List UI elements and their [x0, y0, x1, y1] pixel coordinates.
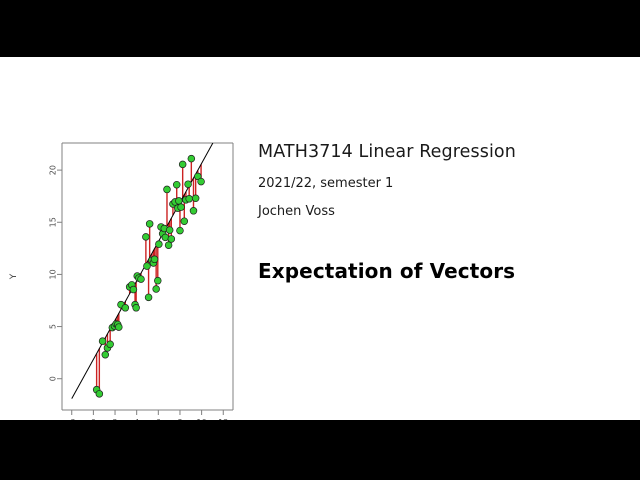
term-subtitle: 2021/22, semester 1	[258, 176, 608, 192]
scatter-plot: -202468101205101520XY	[0, 57, 260, 420]
data-point	[144, 263, 151, 270]
data-point	[146, 220, 153, 227]
course-title: MATH3714 Linear Regression	[258, 142, 608, 163]
data-point	[142, 233, 149, 240]
data-point	[138, 276, 145, 283]
slide-canvas: -202468101205101520XY MATH3714 Linear Re…	[0, 57, 640, 420]
data-point	[153, 286, 160, 293]
data-point	[168, 236, 175, 243]
x-tick-label: 12	[218, 418, 228, 420]
y-tick-label: 10	[49, 269, 58, 279]
data-point	[155, 241, 162, 248]
data-point	[151, 256, 158, 263]
x-tick-label: 10	[197, 418, 207, 420]
data-point	[107, 341, 114, 348]
data-point	[178, 204, 185, 211]
y-tick-label: 15	[49, 217, 58, 227]
data-point	[102, 351, 109, 358]
data-point	[115, 324, 122, 331]
data-point	[164, 186, 171, 193]
data-point	[175, 197, 182, 204]
data-point	[166, 227, 173, 234]
data-point	[192, 195, 199, 202]
x-tick-label: -2	[68, 418, 76, 420]
x-tick-label: 8	[177, 418, 182, 420]
data-point	[96, 390, 103, 397]
data-point	[179, 161, 186, 168]
data-point	[133, 304, 140, 311]
data-point	[154, 277, 161, 284]
slide-text-block: MATH3714 Linear Regression 2021/22, seme…	[258, 142, 608, 283]
data-point	[188, 155, 195, 162]
data-point	[130, 286, 137, 293]
x-tick-label: 4	[134, 418, 139, 420]
y-tick-label: 5	[49, 324, 58, 329]
x-tick-label: 6	[156, 418, 161, 420]
data-point	[185, 181, 192, 188]
y-axis-title: Y	[9, 273, 19, 280]
data-point	[173, 181, 180, 188]
plot-data-layer	[72, 142, 214, 399]
y-tick-label: 20	[49, 165, 58, 175]
video-frame: -202468101205101520XY MATH3714 Linear Re…	[0, 0, 640, 480]
data-point	[186, 195, 193, 202]
y-tick-label: 0	[49, 376, 58, 381]
data-point	[198, 178, 205, 185]
regression-line	[72, 142, 214, 399]
data-point	[181, 218, 188, 225]
data-point	[122, 304, 129, 311]
section-title: Expectation of Vectors	[258, 259, 608, 283]
data-point	[145, 294, 152, 301]
data-point	[99, 338, 106, 345]
data-point	[190, 207, 197, 214]
author-name: Jochen Voss	[258, 204, 608, 220]
data-point	[165, 242, 172, 249]
data-point	[177, 227, 184, 234]
x-tick-label: 2	[112, 418, 117, 420]
plot-svg: -202468101205101520XY	[0, 57, 260, 420]
x-tick-label: 0	[91, 418, 96, 420]
